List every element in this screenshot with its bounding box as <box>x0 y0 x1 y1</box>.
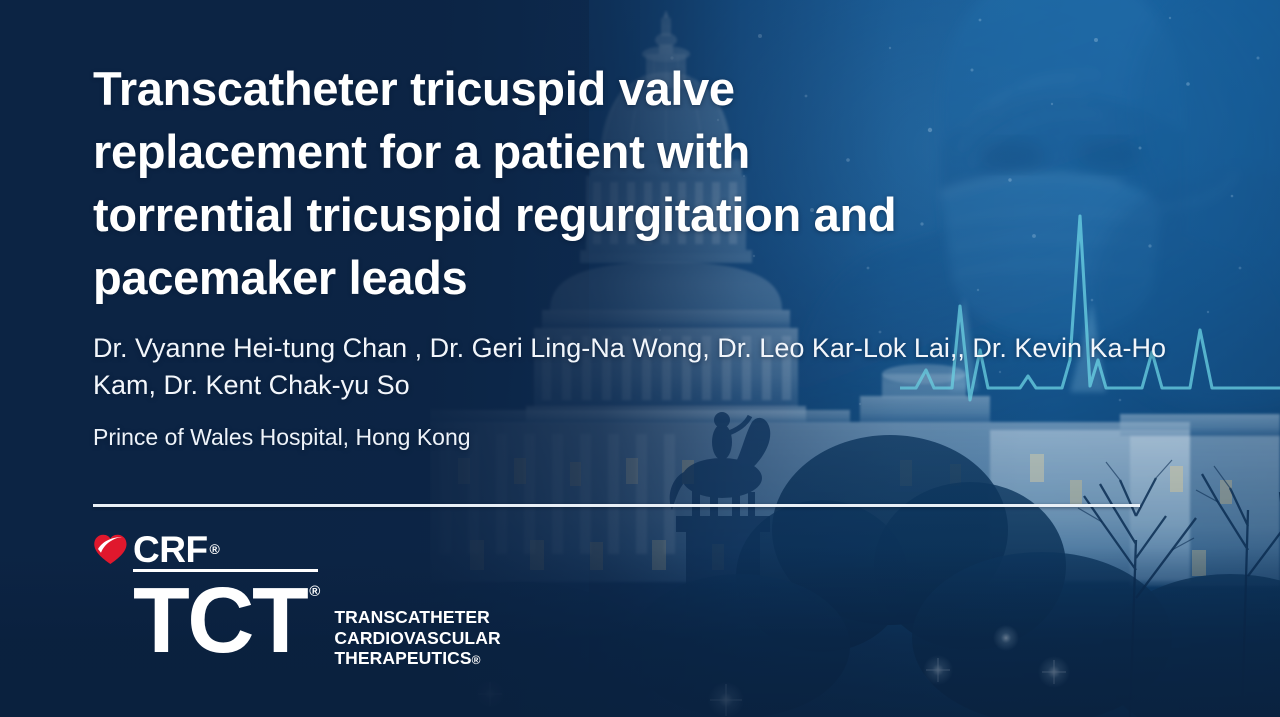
tct-registered-mark: ® <box>309 584 320 599</box>
title-line-3: torrential tricuspid regurgitation and <box>93 183 1123 246</box>
heart-icon <box>92 531 128 567</box>
author-list: Dr. Vyanne Hei-tung Chan , Dr. Geri Ling… <box>93 330 1183 403</box>
slide-content: Transcatheter tricuspid valve replacemen… <box>0 0 1280 717</box>
title-slide: Transcatheter tricuspid valve replacemen… <box>0 0 1280 717</box>
tct-tagline: TRANSCATHETER CARDIOVASCULAR THERAPEUTIC… <box>334 607 500 671</box>
title-line-4: pacemaker leads <box>93 246 1123 309</box>
affiliation-text: Prince of Wales Hospital, Hong Kong <box>93 424 471 451</box>
crf-tct-logo: CRF ® TCT ® TRANSCATHETER CARDIOVASCULAR… <box>90 524 560 674</box>
divider-rule <box>93 504 1140 507</box>
tagline-line-3: THERAPEUTICS <box>334 648 471 668</box>
title-line-2: replacement for a patient with <box>93 120 1123 183</box>
title-line-1: Transcatheter tricuspid valve <box>93 57 1123 120</box>
crf-registered-mark: ® <box>210 542 220 556</box>
tagline-registered-mark: ® <box>472 653 481 667</box>
tagline-line-1: TRANSCATHETER <box>334 607 490 627</box>
tct-logo-row: TCT ® TRANSCATHETER CARDIOVASCULAR THERA… <box>133 578 501 671</box>
crf-logo-row: CRF ® <box>92 528 220 570</box>
page-title: Transcatheter tricuspid valve replacemen… <box>93 57 1123 309</box>
tagline-line-2: CARDIOVASCULAR <box>334 628 500 648</box>
crf-wordmark: CRF <box>133 531 208 568</box>
tct-wordmark: TCT <box>133 578 306 662</box>
